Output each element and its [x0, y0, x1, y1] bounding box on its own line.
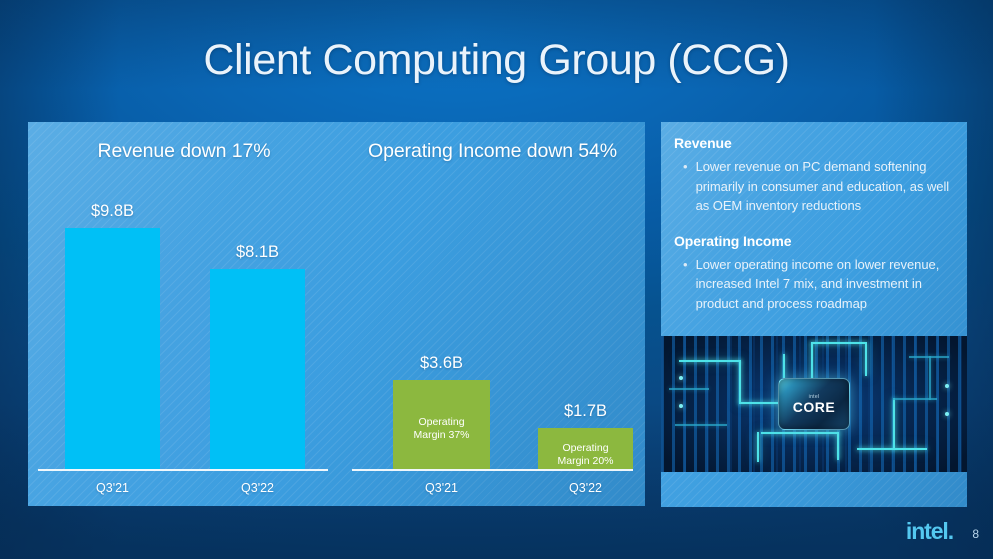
circuit-trace-icon — [679, 360, 741, 362]
slide-footer: intel. 8 — [0, 507, 993, 559]
commentary-bullet-revenue-1: Lower revenue on PC demand softening pri… — [696, 157, 954, 216]
commentary-heading-revenue: Revenue — [674, 135, 954, 151]
circuit-node-icon — [945, 412, 949, 416]
circuit-trace-icon — [757, 432, 759, 462]
bar-annotation-operating-margin-q322: Operating Margin 20% — [538, 442, 633, 468]
commentary-body: Revenue • Lower revenue on PC demand sof… — [674, 135, 954, 313]
circuit-trace-icon — [669, 388, 709, 390]
chip-brand-label: intel — [809, 394, 820, 400]
annotation-line-2: Margin 20% — [538, 455, 633, 468]
circuit-trace-icon — [865, 342, 867, 376]
commentary-group-operating-income: Operating Income • Lower operating incom… — [674, 233, 954, 314]
x-label-revenue-q322: Q3'22 — [210, 481, 305, 495]
circuit-node-icon — [945, 384, 949, 388]
revenue-chart-title: Revenue down 17% — [28, 140, 340, 163]
commentary-bullet-operating-income-1: Lower operating income on lower revenue,… — [696, 255, 954, 314]
commentary-group-revenue: Revenue • Lower revenue on PC demand sof… — [674, 135, 954, 216]
intel-logo: intel. — [906, 518, 953, 545]
list-item: • Lower operating income on lower revenu… — [674, 255, 954, 314]
bar-value-revenue-q321: $9.8B — [91, 202, 134, 221]
intel-core-chip: intel CORE — [778, 378, 850, 430]
intel-logo-text: intel — [906, 518, 948, 544]
circuit-trace-icon — [675, 424, 727, 426]
circuit-trace-icon — [761, 432, 839, 434]
commentary-heading-operating-income: Operating Income — [674, 233, 954, 249]
revenue-chart: Revenue down 17% $9.8B $8.1B Q3'21 Q3'22 — [28, 122, 340, 506]
bar-value-operating-income-q321: $3.6B — [420, 354, 463, 373]
bar-operating-income-q321: $3.6B Operating Margin 37% — [393, 380, 490, 469]
slide-canvas: Client Computing Group (CCG) Revenue dow… — [0, 0, 993, 559]
bar-operating-income-q322: $1.7B Operating Margin 20% — [538, 428, 633, 469]
x-label-operating-income-q321: Q3'21 — [393, 481, 490, 495]
annotation-line-2: Margin 37% — [393, 429, 490, 442]
annotation-line-1: Operating — [538, 442, 633, 455]
circuit-trace-icon — [739, 360, 741, 404]
x-label-operating-income-q322: Q3'22 — [538, 481, 633, 495]
page-number: 8 — [972, 527, 979, 541]
intel-logo-dot: . — [948, 518, 953, 544]
list-item: • Lower revenue on PC demand softening p… — [674, 157, 954, 216]
chip-name-label: CORE — [793, 400, 835, 415]
operating-income-chart-title: Operating Income down 54% — [340, 140, 645, 163]
bar-value-revenue-q322: $8.1B — [236, 243, 279, 262]
product-photo: intel CORE — [661, 336, 967, 472]
bar-annotation-operating-margin-q321: Operating Margin 37% — [393, 416, 490, 442]
circuit-trace-icon — [837, 432, 839, 460]
circuit-trace-icon — [893, 398, 895, 450]
circuit-node-icon — [679, 404, 683, 408]
bullet-dot-icon: • — [683, 255, 688, 314]
circuit-trace-icon — [929, 356, 931, 400]
annotation-line-1: Operating — [393, 416, 490, 429]
bar-value-operating-income-q322: $1.7B — [564, 402, 607, 421]
operating-income-chart: Operating Income down 54% $3.6B Operatin… — [340, 122, 645, 506]
charts-panel: Revenue down 17% $9.8B $8.1B Q3'21 Q3'22… — [28, 122, 645, 506]
operating-income-axis-line — [352, 469, 633, 471]
circuit-trace-icon — [857, 448, 927, 450]
bar-revenue-q322: $8.1B — [210, 269, 305, 469]
circuit-trace-icon — [909, 356, 949, 358]
x-label-revenue-q321: Q3'21 — [65, 481, 160, 495]
bar-revenue-q321: $9.8B — [65, 228, 160, 469]
revenue-axis-line — [38, 469, 328, 471]
circuit-node-icon — [679, 376, 683, 380]
page-title: Client Computing Group (CCG) — [0, 36, 993, 85]
circuit-trace-icon — [811, 342, 865, 344]
bullet-dot-icon: • — [683, 157, 688, 216]
